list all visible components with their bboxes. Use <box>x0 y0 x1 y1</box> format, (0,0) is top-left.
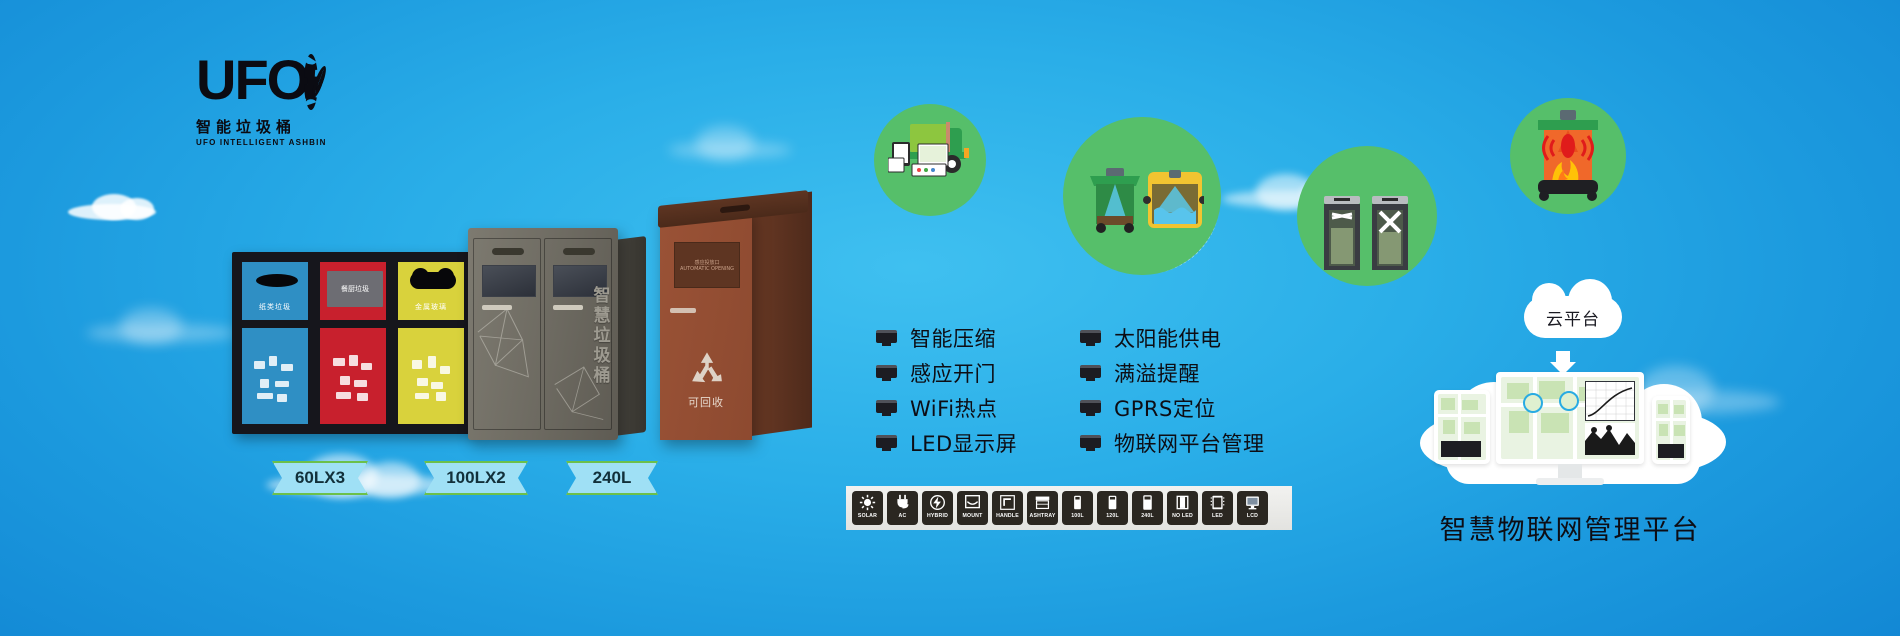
cloud-decoration <box>660 120 810 162</box>
line-chart-thumbnail <box>1585 381 1635 421</box>
lcd-screen-icon <box>1243 493 1263 512</box>
feature-item: LED显示屏 <box>876 425 1017 460</box>
feature-label: 物联网平台管理 <box>1114 428 1265 458</box>
feature-label: GPRS定位 <box>1114 393 1216 423</box>
option-hybrid: HYBRID <box>922 491 953 525</box>
monitor-map-screen <box>1501 377 1639 459</box>
feature-label: 智能压缩 <box>910 323 996 353</box>
option-lcd: LCD <box>1237 491 1268 525</box>
ufo-ring-icon <box>304 54 316 110</box>
option-no-led: NO LED <box>1167 491 1198 525</box>
wall-mount-icon <box>963 493 983 512</box>
option-label: LCD <box>1247 513 1258 519</box>
monitor-icon <box>876 400 897 416</box>
monitor-icon <box>1080 365 1101 381</box>
feature-item: WiFi热点 <box>876 390 1017 425</box>
monitor-icon <box>1080 435 1101 451</box>
option-label: SOLAR <box>858 513 877 519</box>
platform-title: 智慧物联网管理平台 <box>1406 508 1734 547</box>
feature-item: 满溢提醒 <box>1080 355 1265 390</box>
area-chart-thumbnail <box>1585 423 1635 455</box>
option-label: NO LED <box>1172 513 1193 519</box>
option-handle: HANDLE <box>992 491 1023 525</box>
fire-alarm-bin-icon <box>1524 110 1612 202</box>
product-brown-bin: 感应投放口 AUTOMATIC OPENING 可回收 <box>660 196 812 444</box>
screen-slot-icon: 餐厨垃圾 <box>327 271 383 307</box>
monitor-icon <box>1080 330 1101 346</box>
litter-graphic <box>328 350 378 410</box>
feature-column-right: 太阳能供电 满溢提醒 GPRS定位 物联网平台管理 <box>1080 320 1265 460</box>
feature-label: LED显示屏 <box>910 428 1017 458</box>
logo-chinese-name: 智能垃圾桶 <box>196 116 316 137</box>
panel-label-en: AUTOMATIC OPENING <box>680 266 734 272</box>
logo-english-name: UFO INTELLIGENT ASHBIN <box>196 138 316 147</box>
feature-label: 感应开门 <box>910 358 996 388</box>
option-led: LED <box>1202 491 1233 525</box>
cloud-platform-illustration: 云平台 <box>1420 296 1720 546</box>
bin-100l-icon <box>1068 493 1088 512</box>
cloud-label: 云平台 <box>1546 305 1600 330</box>
product-triple-bin: 纸类垃圾 餐厨垃圾 <box>232 252 474 434</box>
capacity-ribbon-60lx3: 60LX3 <box>272 461 368 495</box>
option-label: LED <box>1212 513 1223 519</box>
sun-icon <box>858 493 878 512</box>
monitor-icon <box>1080 400 1101 416</box>
capacity-ribbon-240l: 240L <box>566 461 658 495</box>
round-slot-icon <box>410 272 456 289</box>
compartment-top: 金属玻璃 <box>396 260 466 322</box>
recycle-label: 可回收 <box>660 394 752 410</box>
bin-240l-icon <box>1138 493 1158 512</box>
bin-compartment-metal-glass: 金属玻璃 <box>396 260 466 426</box>
option-label: HANDLE <box>996 513 1019 519</box>
option-100l: 100L <box>1062 491 1093 525</box>
bin-door-left <box>473 238 541 430</box>
logo-wordmark: UFO <box>196 52 308 108</box>
monitor-icon <box>876 365 897 381</box>
bin-compartment-paper: 纸类垃圾 <box>240 260 310 426</box>
cloud-decoration <box>58 182 198 226</box>
feature-label: WiFi热点 <box>910 393 998 423</box>
polygon-pattern <box>474 239 540 425</box>
compartment-label: 金属玻璃 <box>398 302 464 312</box>
feature-label: 满溢提醒 <box>1114 358 1200 388</box>
led-panel-icon <box>1208 493 1228 512</box>
desktop-monitor <box>1496 372 1644 464</box>
bin-front: 感应投放口 AUTOMATIC OPENING 可回收 <box>660 208 752 440</box>
option-label: 240L <box>1141 513 1154 519</box>
handle-icon <box>670 308 696 313</box>
bin-fill-level-sensor-icon <box>1084 168 1204 238</box>
panel-label-cn: 感应投放口 <box>694 259 719 266</box>
bin-side-panel <box>748 192 812 437</box>
tablet-device <box>1434 390 1490 464</box>
compartment-body <box>396 326 466 426</box>
no-led-icon <box>1173 493 1193 512</box>
promo-banner: UFO 智能垃圾桶 UFO INTELLIGENT ASHBIN 纸类垃圾 <box>0 0 1900 636</box>
feature-item: 物联网平台管理 <box>1080 425 1265 460</box>
product-double-bin: 智慧垃圾桶 <box>468 228 646 440</box>
compartment-body <box>318 326 388 426</box>
hybrid-power-icon <box>928 493 948 512</box>
bin-body: 智慧垃圾桶 <box>468 228 618 440</box>
tablet-map-screen <box>1438 394 1486 460</box>
bin-120l-icon <box>1103 493 1123 512</box>
feature-item: 智能压缩 <box>876 320 1017 355</box>
monitor-icon <box>876 435 897 451</box>
bin-compartment-kitchen: 餐厨垃圾 <box>318 260 388 426</box>
option-label: 120L <box>1106 513 1119 519</box>
feature-item: 太阳能供电 <box>1080 320 1265 355</box>
phone-map-screen <box>1656 400 1686 460</box>
oval-slot-icon <box>256 274 298 287</box>
option-label: MOUNT <box>962 513 982 519</box>
cloud-label-bubble: 云平台 <box>1524 296 1622 338</box>
option-240l: 240L <box>1132 491 1163 525</box>
ashtray-icon <box>1033 493 1053 512</box>
feature-column-left: 智能压缩 感应开门 WiFi热点 LED显示屏 <box>876 320 1017 460</box>
handle-icon <box>998 493 1018 512</box>
litter-graphic <box>250 350 300 410</box>
compaction-bins-icon <box>1320 192 1416 272</box>
compartment-top: 纸类垃圾 <box>240 260 310 322</box>
option-label: 100L <box>1071 513 1084 519</box>
smartphone-device <box>1652 396 1690 464</box>
sensor-panel: 感应投放口 AUTOMATIC OPENING <box>674 242 740 288</box>
compartment-body <box>240 326 310 426</box>
capacity-ribbon-100lx2: 100LX2 <box>424 461 528 495</box>
option-ashtray: ASHTRAY <box>1027 491 1058 525</box>
compartment-label: 餐厨垃圾 <box>341 284 369 294</box>
compartment-label: 纸类垃圾 <box>242 302 308 312</box>
option-label: ASHTRAY <box>1030 513 1056 519</box>
option-solar: SOLAR <box>852 491 883 525</box>
option-icon-strip: SOLAR AC HYBRID MOUNT <box>846 486 1292 530</box>
lid-slot-icon <box>720 204 750 213</box>
feature-item: 感应开门 <box>876 355 1017 390</box>
power-plug-icon <box>893 493 913 512</box>
option-120l: 120L <box>1097 491 1128 525</box>
feature-item: GPRS定位 <box>1080 390 1265 425</box>
garbage-truck-and-devices-icon <box>888 118 974 186</box>
option-mount: MOUNT <box>957 491 988 525</box>
recycle-icon <box>686 348 728 390</box>
monitor-stand-base <box>1536 478 1604 485</box>
litter-graphic <box>406 350 456 410</box>
compartment-top: 餐厨垃圾 <box>318 260 388 322</box>
brand-logo: UFO 智能垃圾桶 UFO INTELLIGENT ASHBIN <box>196 52 316 156</box>
option-label: AC <box>899 513 907 519</box>
feature-label: 太阳能供电 <box>1114 323 1222 353</box>
option-label: HYBRID <box>927 513 948 519</box>
bin-side-text: 智慧垃圾桶 <box>592 286 612 386</box>
monitor-icon <box>876 330 897 346</box>
bin-side-panel <box>614 236 646 436</box>
option-ac: AC <box>887 491 918 525</box>
